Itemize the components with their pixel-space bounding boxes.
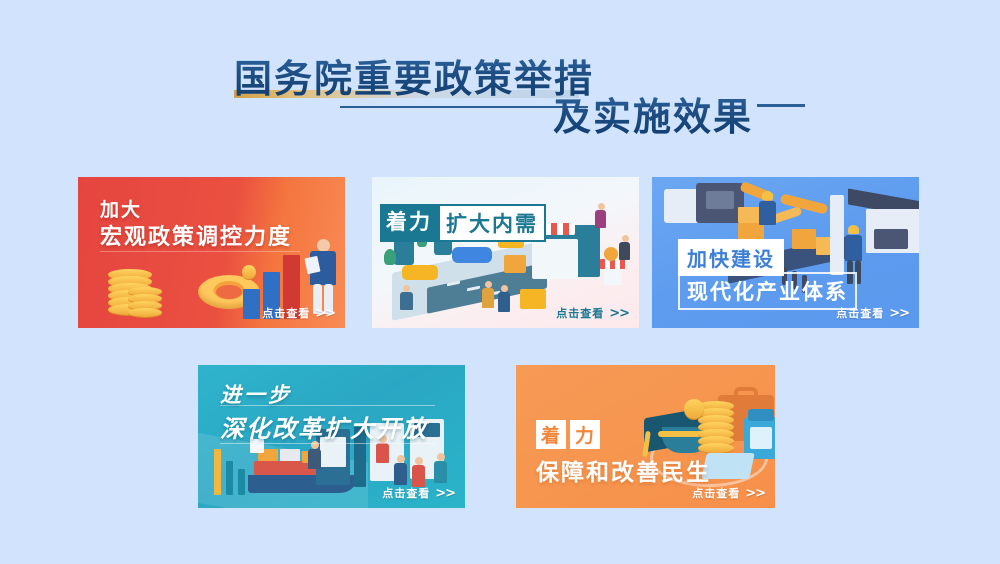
card4-divider-bottom	[220, 443, 435, 444]
title-rule	[340, 106, 588, 108]
card4-cta-label: 点击查看	[382, 485, 430, 501]
card5-title-char2: 力	[570, 420, 600, 449]
card5-title-line2: 保障和改善民生	[536, 453, 711, 487]
page-title-line2: 及实施效果	[553, 86, 753, 141]
car-yellow	[402, 265, 438, 280]
pill-bottle-label	[750, 427, 772, 449]
coin-single	[684, 399, 704, 419]
card-safeguard-improve-livelihood[interactable]: 着 力 保障和改善民生 点击查看 >>	[516, 365, 775, 508]
card5-cta[interactable]: 点击查看 >>	[692, 485, 765, 501]
card-expand-domestic-demand[interactable]: 着力 扩大内需 点击查看 >>	[372, 177, 639, 328]
card5-title-char1: 着	[536, 420, 566, 449]
card3-title-line2: 现代化产业体系	[678, 272, 857, 310]
card3-cta-arrow-icon: >>	[889, 306, 909, 321]
card4-cta-arrow-icon: >>	[435, 486, 455, 501]
card1-title-line1: 加大	[100, 195, 142, 222]
tree-1	[384, 249, 396, 265]
parcel-2	[520, 289, 546, 309]
support-pillar	[830, 195, 844, 275]
card2-cta-label: 点击查看	[556, 305, 604, 321]
card3-cta[interactable]: 点击查看 >>	[836, 305, 909, 321]
card2-cta[interactable]: 点击查看 >>	[556, 305, 629, 321]
card1-cta-arrow-icon: >>	[315, 306, 335, 321]
title-dash	[757, 104, 805, 107]
car-blue	[452, 247, 492, 263]
factory-window	[874, 229, 908, 249]
trophy-icon	[604, 247, 618, 261]
stall-body	[604, 269, 622, 285]
card4-title-line1: 进一步	[220, 379, 292, 409]
card1-cta[interactable]: 点击查看 >>	[262, 305, 335, 321]
card2-title: 着力 扩大内需	[380, 204, 546, 242]
bar-blue-short	[243, 289, 260, 319]
crate-3	[792, 229, 816, 249]
card3-title-line1: 加快建设	[678, 239, 784, 276]
page-title-line1: 国务院重要政策举措	[234, 48, 594, 103]
card4-title-line2: 深化改革扩大开放	[220, 409, 428, 444]
bar-yellow	[214, 449, 221, 495]
parcel-1	[504, 255, 526, 273]
machine-left-screen	[706, 191, 734, 209]
shop-front	[532, 239, 578, 279]
container-2	[280, 449, 300, 461]
card2-title-part2: 扩大内需	[438, 204, 546, 242]
page-root: 国务院重要政策举措 及实施效果	[0, 0, 1000, 564]
card5-title-part-group: 着 力	[536, 420, 600, 449]
card2-cta-arrow-icon: >>	[609, 306, 629, 321]
page-header: 国务院重要政策举措 及实施效果	[0, 0, 1000, 150]
card5-cta-arrow-icon: >>	[745, 486, 765, 501]
card4-cta[interactable]: 点击查看 >>	[382, 485, 455, 501]
card1-divider	[100, 251, 300, 252]
card2-title-part1: 着力	[380, 204, 438, 242]
card1-title-line2: 宏观政策调控力度	[100, 219, 292, 251]
pill-bottle-cap	[748, 409, 774, 421]
card5-cta-label: 点击查看	[692, 485, 740, 501]
coin-floating	[242, 265, 256, 279]
card-modern-industrial-system[interactable]: 加快建设 现代化产业体系 点击查看 >>	[652, 177, 919, 328]
card-macro-policy[interactable]: 加大 宏观政策调控力度 点击查看 >>	[78, 177, 345, 328]
card-deepen-reform-opening-up[interactable]: 进一步 深化改革扩大开放 点击查看 >>	[198, 365, 465, 508]
card1-cta-label: 点击查看	[262, 305, 310, 321]
card3-cta-label: 点击查看	[836, 305, 884, 321]
briefcase-handle	[734, 387, 758, 399]
